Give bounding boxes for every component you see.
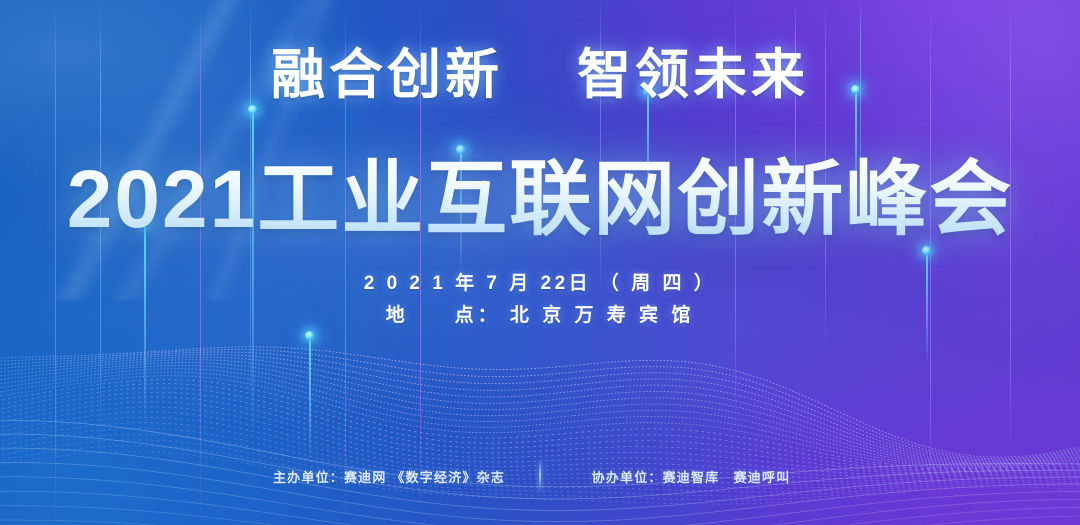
event-poster: 融合创新智领未来 2021工业互联网创新峰会 2 0 2 1 年 7 月 22日… [0,0,1080,525]
poster-tagline: 融合创新智领未来 [0,30,1080,109]
wave-contour-7 [0,516,1080,525]
event-date: 2 0 2 1 年 7 月 22日 （ 周 四 ） [0,268,1080,295]
wave-line-13 [0,388,1080,470]
wave-line-14 [0,392,1080,471]
co-organizer-credit: 协办单位：赛迪智库 赛迪呼叫 [541,467,841,486]
event-location: 地 点： 北 京 万 寿 宾 馆 [0,300,1080,327]
wave-line-5 [0,360,1080,463]
organizer-credit: 主办单位：赛迪网 《数字经济》杂志 [239,467,539,486]
wave-line-11 [0,380,1080,469]
wave-contour-5 [0,491,1080,525]
wave-line-3 [0,354,1080,461]
wave-line-0 [0,347,1080,457]
wave-line-4 [0,357,1080,462]
wave-line-1 [0,349,1080,458]
wave-line-12 [0,384,1080,469]
wave-line-10 [0,376,1080,468]
wave-line-2 [0,352,1080,460]
wave-line-9 [0,372,1080,466]
wave-contour-6 [0,506,1080,525]
wave-line-8 [0,369,1080,466]
tagline-left: 融合创新 [271,45,503,105]
tagline-right: 智领未来 [577,45,809,105]
glow-dot-stem-2 [309,338,311,458]
page-title: 2021工业互联网创新峰会 [0,132,1080,251]
credits-bar: 主办单位：赛迪网 《数字经济》杂志 协办单位：赛迪智库 赛迪呼叫 [0,461,1080,491]
wave-line-7 [0,366,1080,465]
wave-line-6 [0,363,1080,465]
